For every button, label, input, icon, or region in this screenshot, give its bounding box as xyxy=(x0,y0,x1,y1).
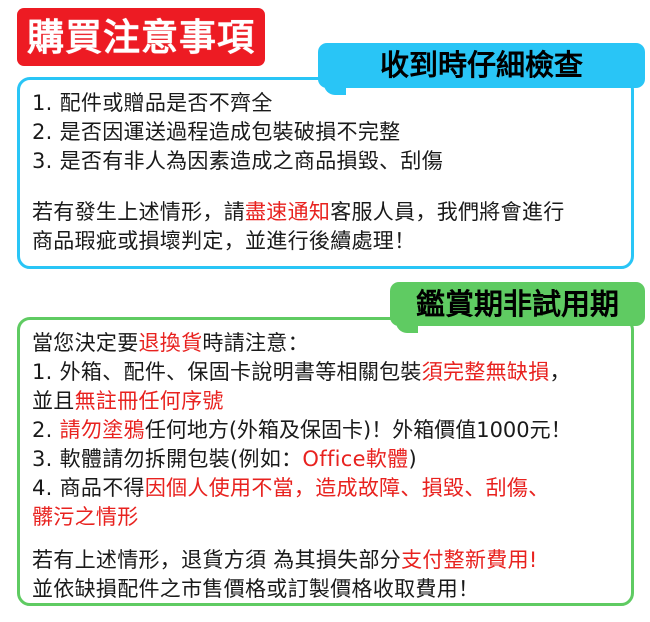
list-item-text: 任何地方(外箱及保固卡)！外箱價值1000元！ xyxy=(145,418,572,442)
return-intro-after: 時請注意： xyxy=(202,331,309,355)
return-section-content: 當您決定要退換貨時請注意： 1. 外箱、配件、保固卡說明書等相關包裝須完整無缺損… xyxy=(20,320,631,610)
tab-cooling-off-period-label: 鑑賞期非試用期 xyxy=(416,290,619,319)
list-item-highlight: 須完整無缺損 xyxy=(422,360,550,384)
list-item-continuation-highlight: 無註冊任何序號 xyxy=(75,389,224,413)
return-intro-before: 當您決定要 xyxy=(32,331,139,355)
list-item-text: 外箱、配件、保固卡說明書等相關包裝 xyxy=(60,360,422,384)
section-spacer xyxy=(32,176,619,198)
list-item-number: 1. xyxy=(32,360,53,384)
tab-inspect-on-arrival-label: 收到時仔細檢查 xyxy=(380,51,583,80)
return-note-line-1: 若有上述情形，退貨方須 為其損失部分支付整新費用! xyxy=(32,546,619,575)
list-item-number: 3. xyxy=(32,149,53,173)
list-item-highlight: 請勿塗鴉 xyxy=(60,418,145,442)
list-item-continuation-highlight: 髒污之情形 xyxy=(32,505,139,529)
list-item: 1. 外箱、配件、保固卡說明書等相關包裝須完整無缺損， xyxy=(32,358,619,387)
inspect-note-text-after: 客服人員，我們將會進行 xyxy=(330,200,564,224)
return-note-text-before: 若有上述情形，退貨方須 為其損失部分 xyxy=(32,548,401,572)
inspect-section-box: 1. 配件或贈品是否不齊全 2. 是否因運送過程造成包裝破損不完整 3. 是否有… xyxy=(17,77,634,269)
list-item-text: 是否有非人為因素造成之商品損毀、刮傷 xyxy=(60,149,443,173)
inspect-note-line-1: 若有發生上述情形，請盡速通知客服人員，我們將會進行 xyxy=(32,198,619,227)
list-item: 1. 配件或贈品是否不齊全 xyxy=(32,89,619,118)
list-item-number: 1. xyxy=(32,91,53,115)
list-item-number: 2. xyxy=(32,120,53,144)
list-item-continuation: 髒污之情形 xyxy=(32,503,619,532)
return-section-box: 當您決定要退換貨時請注意： 1. 外箱、配件、保固卡說明書等相關包裝須完整無缺損… xyxy=(17,317,634,606)
list-item-number: 4. xyxy=(32,476,53,500)
list-item-continuation: 並且無註冊任何序號 xyxy=(32,387,619,416)
list-item-text: 是否因運送過程造成包裝破損不完整 xyxy=(60,120,401,144)
inspect-section-content: 1. 配件或贈品是否不齊全 2. 是否因運送過程造成包裝破損不完整 3. 是否有… xyxy=(20,80,631,262)
list-item-number: 2. xyxy=(32,418,53,442)
list-item-text-tail: ， xyxy=(550,360,571,384)
page-title-badge: 購買注意事項 xyxy=(17,8,265,66)
return-intro-line: 當您決定要退換貨時請注意： xyxy=(32,329,619,358)
list-item-continuation-text: 並且 xyxy=(32,389,75,413)
inspect-note-line-2: 商品瑕疵或損壞判定，並進行後續處理！ xyxy=(32,227,619,256)
list-item-text-tail: ) xyxy=(408,447,417,471)
list-item: 2. 請勿塗鴉任何地方(外箱及保固卡)！外箱價值1000元！ xyxy=(32,416,619,445)
return-note-highlight: 支付整新費用! xyxy=(401,548,538,572)
list-item: 2. 是否因運送過程造成包裝破損不完整 xyxy=(32,118,619,147)
notice-page: 購買注意事項 收到時仔細檢查 1. 配件或贈品是否不齊全 2. 是否因運送過程造… xyxy=(0,0,650,622)
list-item: 3. 是否有非人為因素造成之商品損毀、刮傷 xyxy=(32,147,619,176)
return-intro-highlight: 退換貨 xyxy=(139,331,203,355)
list-item-text: 商品不得 xyxy=(60,476,145,500)
list-item-highlight: Office軟體 xyxy=(302,447,408,471)
list-item-highlight: 因個人使用不當，造成故障、損毀、刮傷、 xyxy=(145,476,550,500)
return-note-line-2: 並依缺損配件之市售價格或訂製價格收取費用！ xyxy=(32,575,619,604)
tab-cooling-off-period: 鑑賞期非試用期 xyxy=(390,282,645,326)
tab-inspect-on-arrival: 收到時仔細檢查 xyxy=(318,43,645,88)
list-item: 3. 軟體請勿拆開包裝(例如：Office軟體) xyxy=(32,445,619,474)
inspect-note-text-before: 若有發生上述情形，請 xyxy=(32,200,245,224)
list-item-text: 配件或贈品是否不齊全 xyxy=(60,91,273,115)
list-item-text: 軟體請勿拆開包裝(例如： xyxy=(60,447,303,471)
page-title: 購買注意事項 xyxy=(27,19,255,56)
inspect-note-highlight: 盡速通知 xyxy=(245,200,330,224)
list-item-number: 3. xyxy=(32,447,53,471)
section-spacer xyxy=(32,532,619,546)
list-item: 4. 商品不得因個人使用不當，造成故障、損毀、刮傷、 xyxy=(32,474,619,503)
